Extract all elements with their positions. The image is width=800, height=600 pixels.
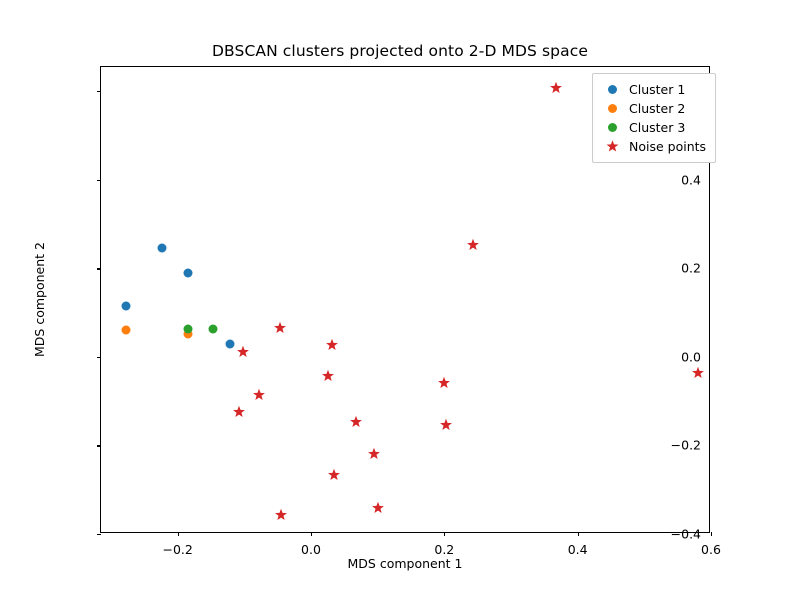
x-tick-label: 0.6	[701, 542, 721, 557]
legend-item-label: Cluster 3	[629, 120, 685, 135]
star-marker-icon	[601, 140, 623, 153]
x-tick-mark	[711, 532, 712, 536]
x-tick-label: 0.0	[301, 542, 321, 557]
y-tick-label: 0.2	[681, 261, 701, 276]
x-tick-label: 0.4	[568, 542, 588, 557]
y-tick-label: −0.2	[671, 438, 701, 453]
chart-title: DBSCAN clusters projected onto 2-D MDS s…	[0, 42, 800, 60]
x-tick-mark	[578, 532, 579, 536]
x-tick-label: −0.2	[162, 542, 192, 557]
matplotlib-figure: DBSCAN clusters projected onto 2-D MDS s…	[0, 0, 800, 600]
legend-item-cluster-3[interactable]: Cluster 3	[601, 118, 706, 137]
y-tick-mark	[97, 180, 101, 181]
circle-marker-icon	[601, 104, 623, 113]
x-tick-label: 0.2	[434, 542, 454, 557]
legend-item-label: Cluster 1	[629, 82, 685, 97]
legend-item-label: Cluster 2	[629, 101, 685, 116]
y-tick-mark	[97, 268, 101, 269]
circle-marker-icon	[601, 85, 623, 94]
legend-item-label: Noise points	[629, 139, 706, 154]
circle-marker-icon	[601, 123, 623, 132]
y-tick-mark	[97, 357, 101, 358]
y-axis-label: MDS component 2	[32, 66, 47, 533]
y-tick-label: −0.4	[671, 527, 701, 542]
x-tick-mark	[178, 532, 179, 536]
y-tick-label: 0.4	[681, 172, 701, 187]
x-axis-label: MDS component 1	[100, 556, 710, 571]
legend-item-noise-points[interactable]: Noise points	[601, 137, 706, 156]
y-tick-mark	[97, 534, 101, 535]
y-tick-mark	[97, 445, 101, 446]
chart-legend: Cluster 1Cluster 2Cluster 3Noise points	[592, 73, 716, 163]
legend-item-cluster-2[interactable]: Cluster 2	[601, 99, 706, 118]
y-tick-label: 0.0	[681, 349, 701, 364]
y-tick-mark	[97, 91, 101, 92]
legend-item-cluster-1[interactable]: Cluster 1	[601, 80, 706, 99]
x-tick-mark	[311, 532, 312, 536]
x-tick-mark	[444, 532, 445, 536]
